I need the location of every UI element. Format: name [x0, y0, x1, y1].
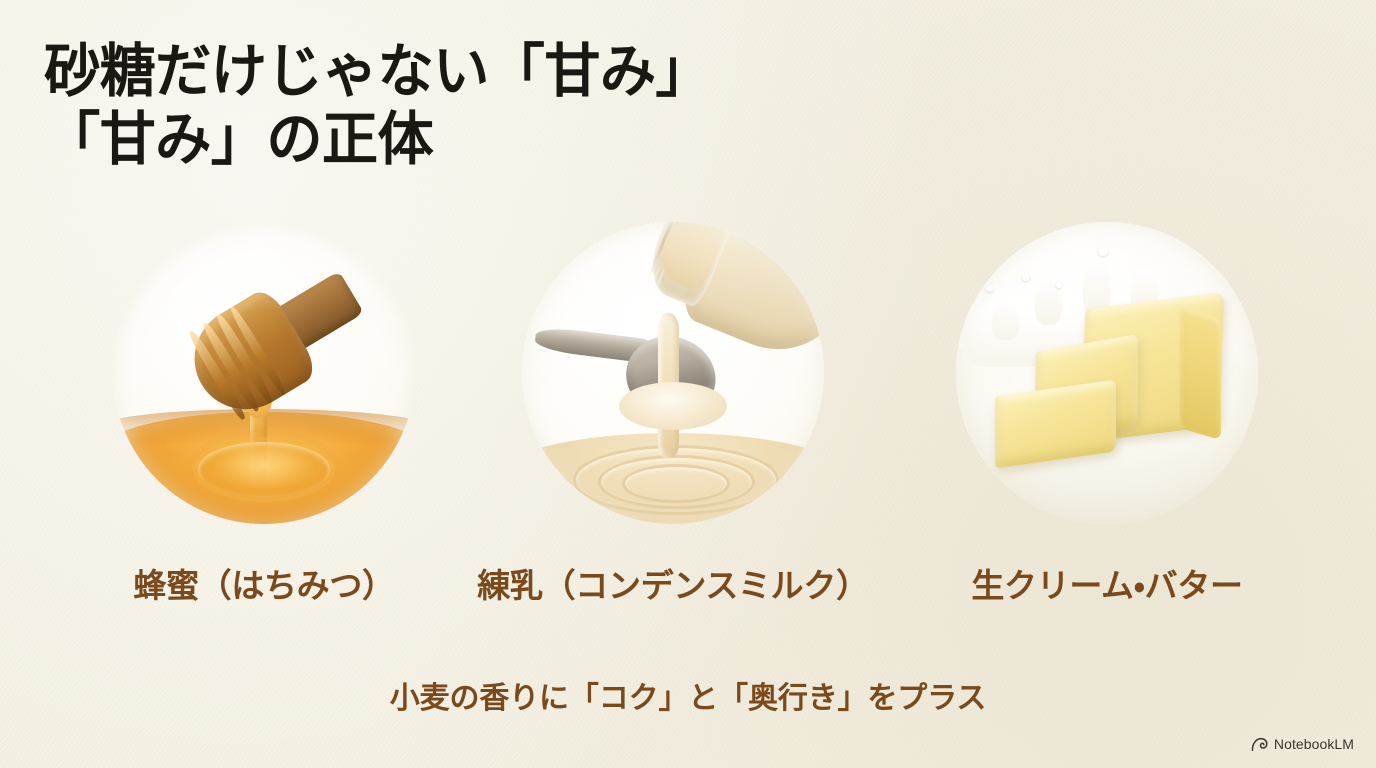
page-title: 砂糖だけじゃない「甘み」 「甘み」の正体	[44, 38, 944, 175]
caption-honey: 蜂蜜（はちみつ）	[113, 566, 415, 606]
image-row	[0, 222, 1376, 526]
butter-block-face	[1179, 307, 1221, 440]
title-line-1: 砂糖だけじゃない「甘み」	[44, 38, 917, 106]
honey-ripple	[198, 442, 331, 496]
item-honey	[113, 222, 415, 524]
title-line-2: 「甘み」の正体	[44, 106, 917, 174]
item-condensed-milk	[522, 222, 824, 524]
item-cream-butter	[956, 222, 1258, 524]
summary-line: 小麦の香りに「コク」と「奥行き」をプラス	[0, 673, 1376, 717]
caption-condensed-milk: 練乳（コンデンスミルク）	[470, 566, 876, 606]
condensed-milk-pour-photo	[522, 222, 824, 524]
slide-canvas: 砂糖だけじゃない「甘み」 「甘み」の正体	[0, 0, 1376, 768]
notebooklm-watermark: NotebookLM	[1251, 736, 1354, 752]
cream-droplet	[1098, 246, 1108, 256]
notebooklm-logo-icon	[1251, 737, 1268, 752]
caption-cream-butter: 生クリーム・バター	[937, 566, 1277, 606]
cream-crown-peak	[992, 301, 1019, 340]
butter-cream-splash-photo	[956, 222, 1258, 524]
condensed-milk-ripple	[622, 464, 731, 503]
caption-row: 蜂蜜（はちみつ） 練乳（コンデンスミルク） 生クリーム・バター	[0, 566, 1376, 614]
notebooklm-label: NotebookLM	[1274, 736, 1354, 752]
cream-droplet	[986, 285, 993, 292]
honey-dipper-drizzle-photo	[113, 222, 415, 524]
